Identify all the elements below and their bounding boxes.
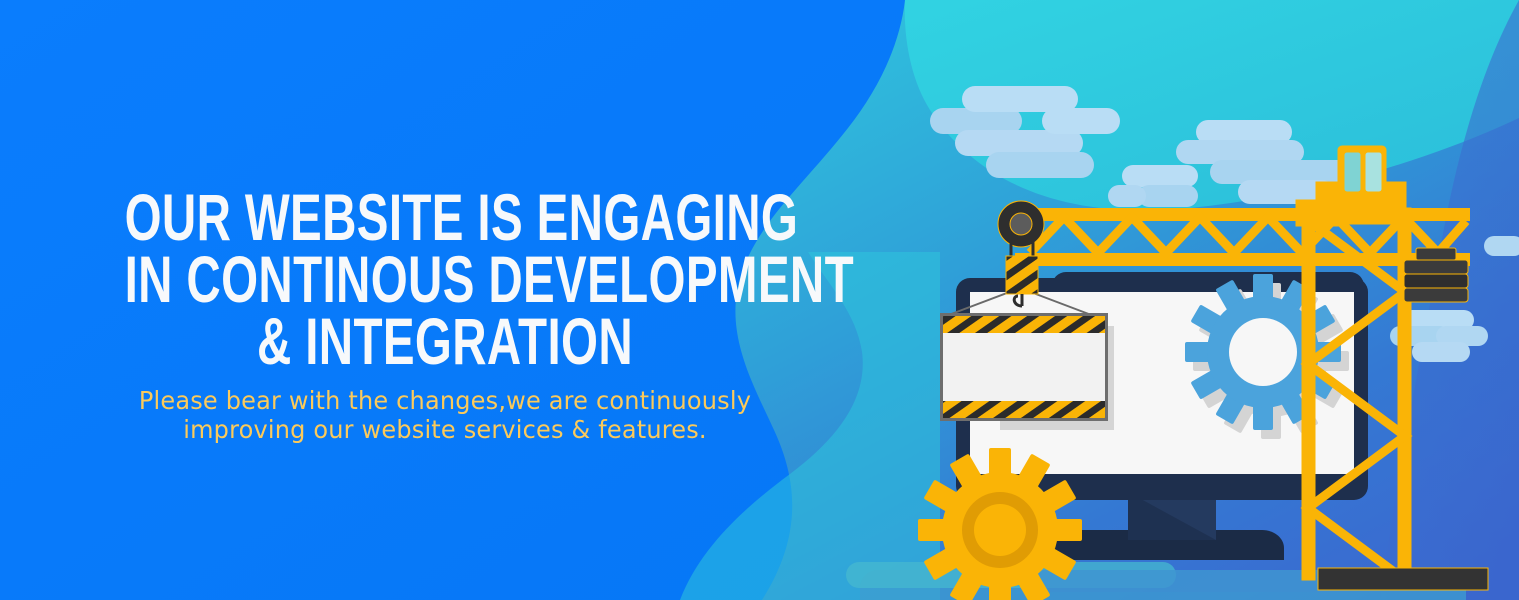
crane-hook-block <box>1006 256 1038 294</box>
crane-cabin <box>1338 146 1386 194</box>
crane-base <box>1318 568 1488 590</box>
banner-illustration <box>0 0 1519 600</box>
under-development-banner: OUR WEBSITE IS ENGAGING IN CONTINOUS DEV… <box>0 0 1519 600</box>
crane-pulley <box>998 201 1044 247</box>
cloud-group-5 <box>1484 236 1519 256</box>
